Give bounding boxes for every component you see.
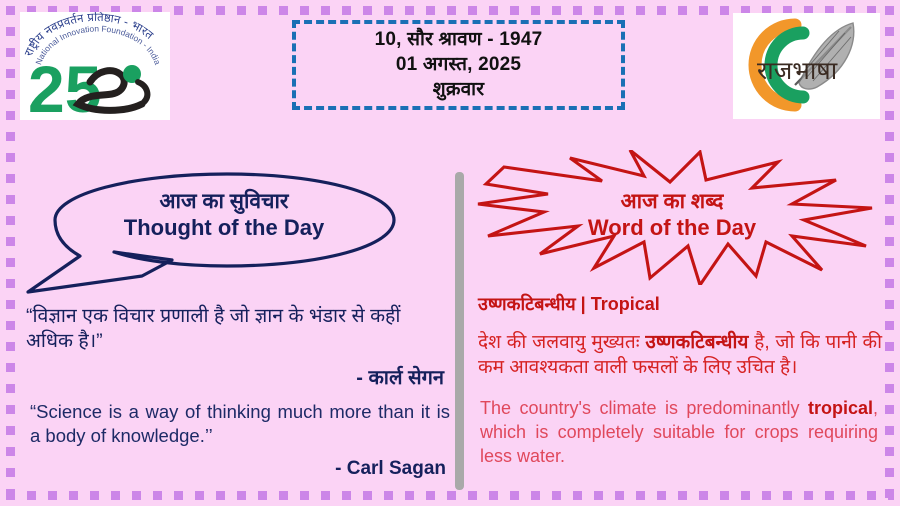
word-of-the-day-section: आज का शब्द Word of the Day उष्णकटिबन्धीय… bbox=[474, 150, 886, 495]
thought-quote-hindi: “विज्ञान एक विचार प्रणाली है जो ज्ञान के… bbox=[26, 304, 450, 355]
rajbhasha-logo: राजभाषा bbox=[733, 13, 880, 119]
thought-heading-english: Thought of the Day bbox=[74, 215, 374, 241]
word-sentence-hindi: देश की जलवायु मुख्यतः उष्णकटिबन्धीय है, … bbox=[478, 330, 882, 380]
word-term: उष्णकटिबन्धीय | Tropical bbox=[478, 292, 886, 316]
thought-author-english: - Carl Sagan bbox=[22, 458, 446, 480]
word-sentence-english: The country's climate is predominantly t… bbox=[480, 396, 878, 468]
word-sentence-hindi-before: देश की जलवायु मुख्यतः bbox=[478, 332, 645, 353]
date-line-weekday: शुक्रवार bbox=[433, 78, 485, 102]
thought-of-the-day-section: आज का सुविचार Thought of the Day “विज्ञा… bbox=[22, 160, 450, 490]
national-innovation-foundation-logo: राष्ट्रीय नवप्रवर्तन प्रतिष्ठान - भारत N… bbox=[20, 12, 170, 120]
word-heading: आज का शब्द Word of the Day bbox=[562, 190, 782, 241]
date-line-saka: 10, सौर श्रावण - 1947 bbox=[375, 28, 543, 52]
column-divider bbox=[455, 172, 464, 490]
rajbhasha-label: राजभाषा bbox=[757, 56, 838, 85]
thought-quote-english: “Science is a way of thinking much more … bbox=[30, 400, 450, 448]
word-sentence-english-before: The country's climate is predominantly bbox=[480, 398, 808, 418]
date-line-gregorian: 01 अगस्त, 2025 bbox=[396, 53, 521, 77]
thought-heading-hindi: आज का सुविचार bbox=[74, 190, 374, 215]
daily-thought-poster: राष्ट्रीय नवप्रवर्तन प्रतिष्ठान - भारत N… bbox=[0, 0, 900, 506]
border-left bbox=[6, 6, 15, 500]
word-sentence-english-highlight: tropical bbox=[808, 398, 873, 418]
border-right bbox=[885, 6, 894, 500]
word-heading-hindi: आज का शब्द bbox=[562, 190, 782, 215]
date-banner: 10, सौर श्रावण - 1947 01 अगस्त, 2025 शुक… bbox=[292, 20, 625, 110]
word-heading-english: Word of the Day bbox=[562, 215, 782, 241]
thought-heading: आज का सुविचार Thought of the Day bbox=[74, 190, 374, 241]
word-sentence-hindi-highlight: उष्णकटिबन्धीय bbox=[645, 332, 748, 353]
thought-speech-bubble: आज का सुविचार Thought of the Day bbox=[22, 160, 450, 302]
word-starburst: आज का शब्द Word of the Day bbox=[474, 150, 874, 285]
thought-author-hindi: - कार्ल सेगन bbox=[22, 363, 444, 390]
